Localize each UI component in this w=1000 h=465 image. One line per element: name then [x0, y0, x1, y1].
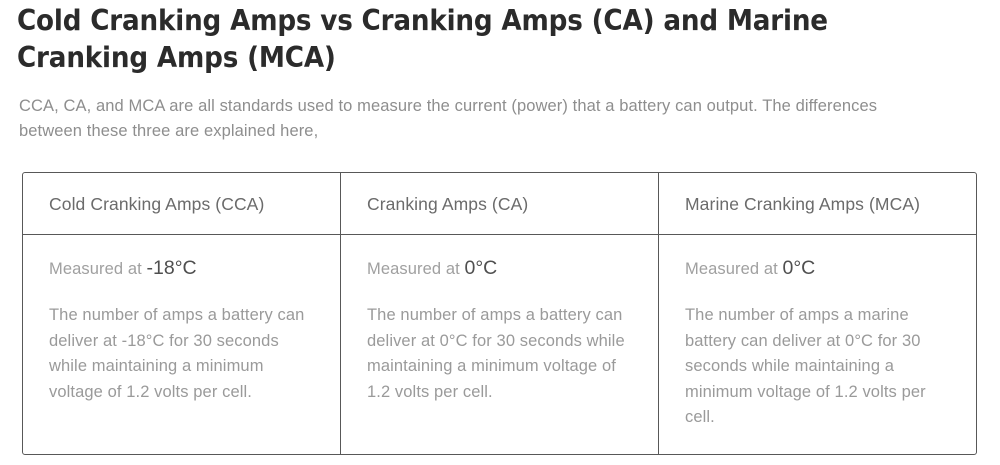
document-page: Cold Cranking Amps vs Cranking Amps (CA)… — [0, 0, 1000, 465]
measured-label: Measured at — [685, 260, 783, 278]
measured-value: 0°C — [465, 257, 498, 279]
measured-label: Measured at — [49, 260, 147, 278]
table-body-row: Measured at -18°C The number of amps a b… — [23, 235, 976, 454]
table-header-label: Cranking Amps (CA) — [367, 193, 528, 215]
table-header-cell-mca: Marine Cranking Amps (MCA) — [658, 173, 976, 234]
measured-temperature: Measured at 0°C — [685, 257, 958, 280]
comparison-table: Cold Cranking Amps (CCA) Cranking Amps (… — [22, 172, 977, 455]
table-cell-ca: Measured at 0°C The number of amps a bat… — [340, 235, 658, 454]
cell-description: The number of amps a battery can deliver… — [49, 303, 307, 405]
cell-description: The number of amps a marine battery can … — [685, 303, 947, 431]
table-header-label: Cold Cranking Amps (CCA) — [49, 193, 264, 215]
table-header-cell-cca: Cold Cranking Amps (CCA) — [23, 173, 340, 234]
measured-temperature: Measured at -18°C — [49, 257, 322, 280]
page-title: Cold Cranking Amps vs Cranking Amps (CA)… — [17, 2, 873, 76]
table-header-cell-ca: Cranking Amps (CA) — [340, 173, 658, 234]
table-cell-cca: Measured at -18°C The number of amps a b… — [23, 235, 340, 454]
measured-value: 0°C — [783, 257, 816, 279]
intro-paragraph: CCA, CA, and MCA are all standards used … — [19, 94, 924, 144]
measured-value: -18°C — [147, 257, 197, 279]
measured-label: Measured at — [367, 260, 465, 278]
table-cell-mca: Measured at 0°C The number of amps a mar… — [658, 235, 976, 454]
cell-description: The number of amps a battery can deliver… — [367, 303, 625, 405]
table-header-row: Cold Cranking Amps (CCA) Cranking Amps (… — [23, 173, 976, 235]
table-header-label: Marine Cranking Amps (MCA) — [685, 193, 920, 215]
measured-temperature: Measured at 0°C — [367, 257, 640, 280]
